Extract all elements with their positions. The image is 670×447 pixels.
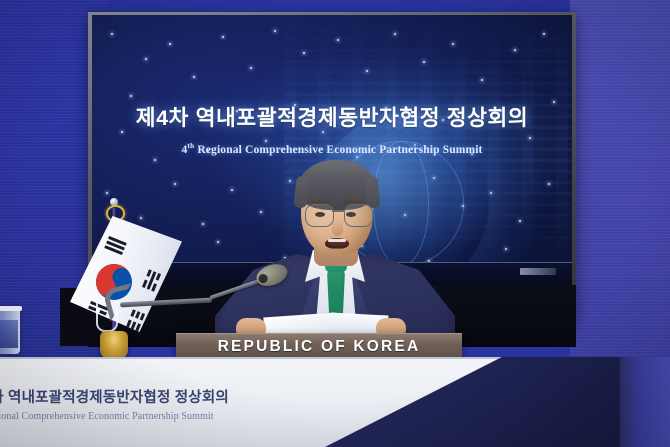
screen-title-korean: 제4차 역내포괄적경제동반자협정 정상회의 [92,101,572,132]
water [0,320,18,348]
hair [297,160,377,210]
screen-subtitle-english: 4th Regional Comprehensive Economic Part… [92,141,572,156]
desk-banner: 4차 역내포괄적경제동반자협정 정상회의 Regional Comprehens… [0,386,282,422]
nose [332,218,343,236]
trigram-gam [142,269,161,291]
backdrop-wall-right [570,0,670,392]
summit-press-photo: 제4차 역내포괄적경제동반자협정 정상회의 4th Regional Compr… [0,0,670,447]
desk-banner-subtitle-english: Regional Comprehensive Economic Partners… [0,411,282,422]
monitor-brand-logo [520,268,556,275]
desk-right-edge [620,357,670,447]
desk-banner-title-korean: 4차 역내포괄적경제동반자협정 정상회의 [0,386,282,407]
trigram-geon [104,236,126,255]
desk-navy-wedge [325,357,630,447]
water-glass [0,306,20,354]
wall-texture [570,0,670,392]
flag-stand-base [100,331,128,359]
nameplate-text: REPUBLIC OF KOREA [218,338,421,356]
screen-subtitle-text: Regional Comprehensive Economic Partners… [194,144,482,156]
korean-flag [62,198,180,363]
chin [319,248,355,258]
country-nameplate: REPUBLIC OF KOREA [176,333,462,360]
glass-rim [0,306,22,311]
